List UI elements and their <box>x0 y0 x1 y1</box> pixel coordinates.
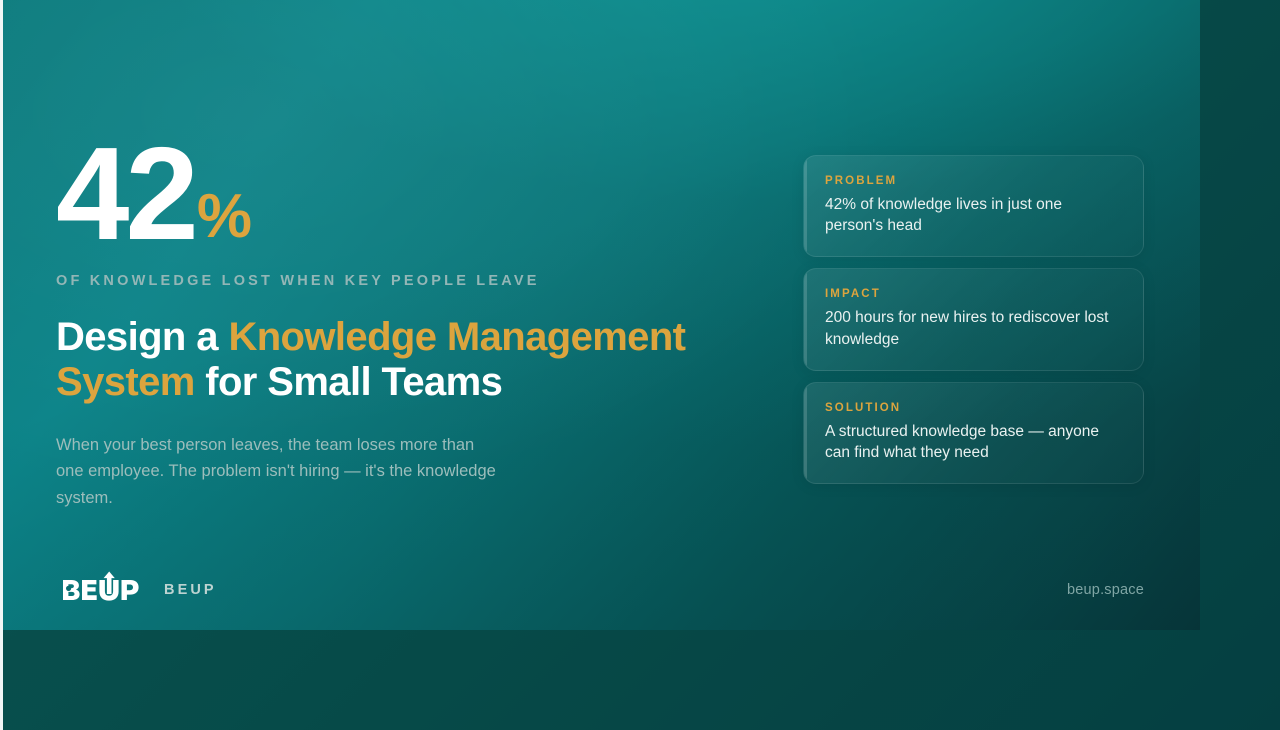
slide-footer: BEUP beup.space <box>59 570 1144 610</box>
card-text: A structured knowledge base — anyone can… <box>825 421 1122 463</box>
headline-statistic: 42 % <box>56 136 786 252</box>
card-label: PROBLEM <box>825 175 1122 187</box>
headline-part-2: for Small Teams <box>195 360 503 404</box>
stat-percent-sign: % <box>197 186 251 248</box>
brand-lockup: BEUP <box>59 570 217 610</box>
card-text: 42% of knowledge lives in just one perso… <box>825 194 1122 236</box>
presentation-slide: 42 % OF KNOWLEDGE LOST WHEN KEY PEOPLE L… <box>3 0 1200 630</box>
beup-arrow-logo-icon <box>59 570 147 610</box>
body-paragraph: When your best person leaves, the team l… <box>56 432 501 512</box>
card-label: SOLUTION <box>825 402 1122 414</box>
card-label: IMPACT <box>825 288 1122 300</box>
stat-caption: OF KNOWLEDGE LOST WHEN KEY PEOPLE LEAVE <box>56 273 786 289</box>
brand-name: BEUP <box>164 582 217 598</box>
insight-card-impact: IMPACT 200 hours for new hires to redisc… <box>803 268 1144 370</box>
headline-part-1: Design a <box>56 315 228 359</box>
page-title: Design a Knowledge Management System for… <box>56 315 786 405</box>
insight-card-list: PROBLEM 42% of knowledge lives in just o… <box>803 155 1144 484</box>
site-url: beup.space <box>1067 582 1144 598</box>
card-text: 200 hours for new hires to rediscover lo… <box>825 307 1122 349</box>
insight-card-problem: PROBLEM 42% of knowledge lives in just o… <box>803 155 1144 257</box>
insight-card-solution: SOLUTION A structured knowledge base — a… <box>803 382 1144 484</box>
slide-left-column: 42 % OF KNOWLEDGE LOST WHEN KEY PEOPLE L… <box>56 136 786 528</box>
stat-number: 42 <box>56 136 195 252</box>
